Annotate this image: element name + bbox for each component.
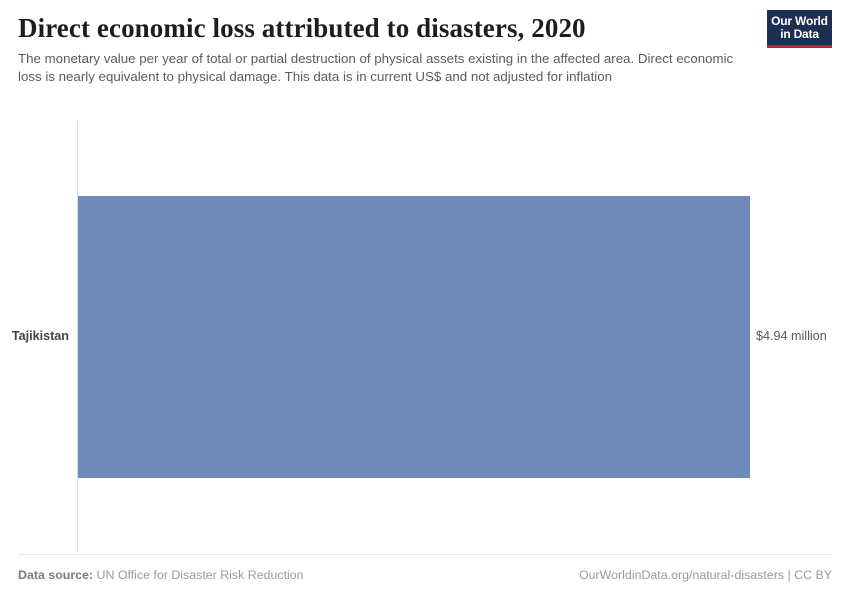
chart-footer: Data source: UN Office for Disaster Risk… [18,568,832,582]
chart-plot-area [0,0,850,600]
y-axis-line [77,122,78,552]
bar-tajikistan[interactable] [78,196,750,478]
footer-divider [18,554,832,555]
data-source-label: Data source: [18,568,93,582]
attribution-link[interactable]: OurWorldinData.org/natural-disasters | C… [579,568,832,582]
data-source-value: UN Office for Disaster Risk Reduction [97,568,304,582]
owid-logo-line-2: in Data [771,28,828,41]
chart-header: Direct economic loss attributed to disas… [18,12,748,85]
chart-subtitle: The monetary value per year of total or … [18,50,734,85]
bar-entity-label: Tajikistan [12,329,69,343]
bar-value-label: $4.94 million [756,329,827,343]
owid-logo[interactable]: Our World in Data [767,10,832,48]
page-title: Direct economic loss attributed to disas… [18,12,748,44]
data-source: Data source: UN Office for Disaster Risk… [18,568,304,582]
